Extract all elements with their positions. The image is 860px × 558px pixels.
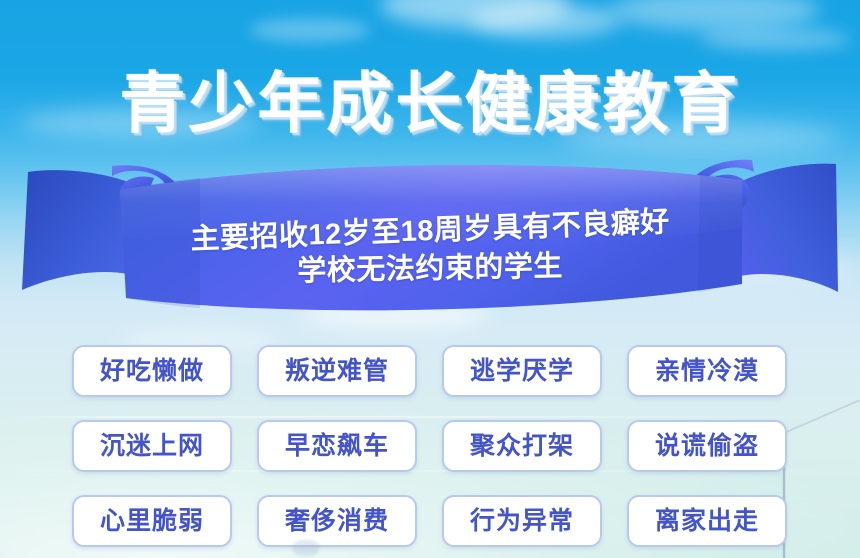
- tag-item[interactable]: 沉迷上网: [72, 420, 232, 472]
- tag-item[interactable]: 叛逆难管: [257, 345, 417, 397]
- tag-item[interactable]: 逃学厌学: [442, 345, 602, 397]
- page-title: 青少年成长健康教育: [0, 70, 860, 136]
- tag-item[interactable]: 聚众打架: [442, 420, 602, 472]
- tag-item[interactable]: 亲情冷漠: [627, 345, 787, 397]
- tag-item[interactable]: 行为异常: [442, 495, 602, 547]
- ribbon-banner: 主要招收12岁至18周岁具有不良癖好 学校无法约束的学生: [0, 148, 860, 323]
- tag-item[interactable]: 好吃懒做: [72, 345, 232, 397]
- tag-item[interactable]: 早恋飙车: [257, 420, 417, 472]
- tag-item[interactable]: 心里脆弱: [72, 495, 232, 547]
- behavior-tag-grid: 好吃懒做 叛逆难管 逃学厌学 亲情冷漠 沉迷上网 早恋飙车 聚众打架 说谎偷盗 …: [72, 345, 788, 547]
- tag-item[interactable]: 奢侈消费: [257, 495, 417, 547]
- tag-item[interactable]: 离家出走: [627, 495, 787, 547]
- promo-poster: 青少年成长健康教育: [0, 0, 860, 558]
- background-smudge: [293, 540, 319, 556]
- ribbon-shape: [0, 148, 860, 323]
- tag-item[interactable]: 说谎偷盗: [627, 420, 787, 472]
